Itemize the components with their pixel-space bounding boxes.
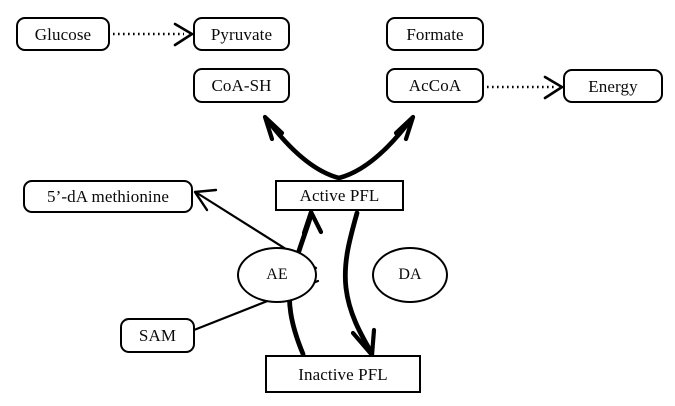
edge-activepfl-to-accoa — [339, 117, 413, 178]
node-energy[interactable]: Energy — [563, 69, 663, 103]
node-sam[interactable]: SAM — [120, 318, 195, 353]
node-formate[interactable]: Formate — [386, 17, 484, 51]
node-energy-label: Energy — [588, 78, 637, 95]
edge-activepfl-to-pyruvate — [265, 117, 339, 178]
node-coash-label: CoA-SH — [211, 77, 271, 94]
node-active-pfl-label: Active PFL — [300, 187, 380, 204]
node-accoa-label: AcCoA — [409, 77, 461, 94]
node-ae[interactable]: AE — [237, 247, 317, 303]
arrowhead-open-v — [304, 212, 321, 233]
node-glucose-label: Glucose — [35, 26, 91, 43]
node-inactive-pfl-label: Inactive PFL — [298, 366, 388, 383]
curve-down-right — [345, 213, 371, 352]
node-da-label: DA — [398, 267, 421, 283]
node-pyruvate[interactable]: Pyruvate — [193, 17, 290, 51]
edge-activepfl-to-inactivepfl — [345, 213, 374, 355]
edge-glucose-to-pyruvate — [113, 24, 192, 45]
node-sam-label: SAM — [139, 327, 176, 344]
node-formate-label: Formate — [406, 26, 463, 43]
node-pyruvate-label: Pyruvate — [211, 26, 272, 43]
node-ae-label: AE — [266, 267, 288, 283]
node-glucose[interactable]: Glucose — [16, 17, 110, 51]
node-da[interactable]: DA — [372, 247, 448, 303]
node-inactive-pfl[interactable]: Inactive PFL — [265, 355, 421, 393]
node-coash[interactable]: CoA-SH — [193, 68, 290, 103]
node-5dA-methionine[interactable]: 5’-dA methionine — [23, 180, 193, 213]
edge-accoa-to-energy — [487, 77, 562, 98]
node-active-pfl[interactable]: Active PFL — [275, 180, 404, 211]
diagram-canvas: Glucose Pyruvate Formate CoA-SH AcCoA En… — [0, 0, 675, 406]
node-5dA-methionine-label: 5’-dA methionine — [47, 188, 169, 205]
node-accoa[interactable]: AcCoA — [386, 68, 484, 103]
